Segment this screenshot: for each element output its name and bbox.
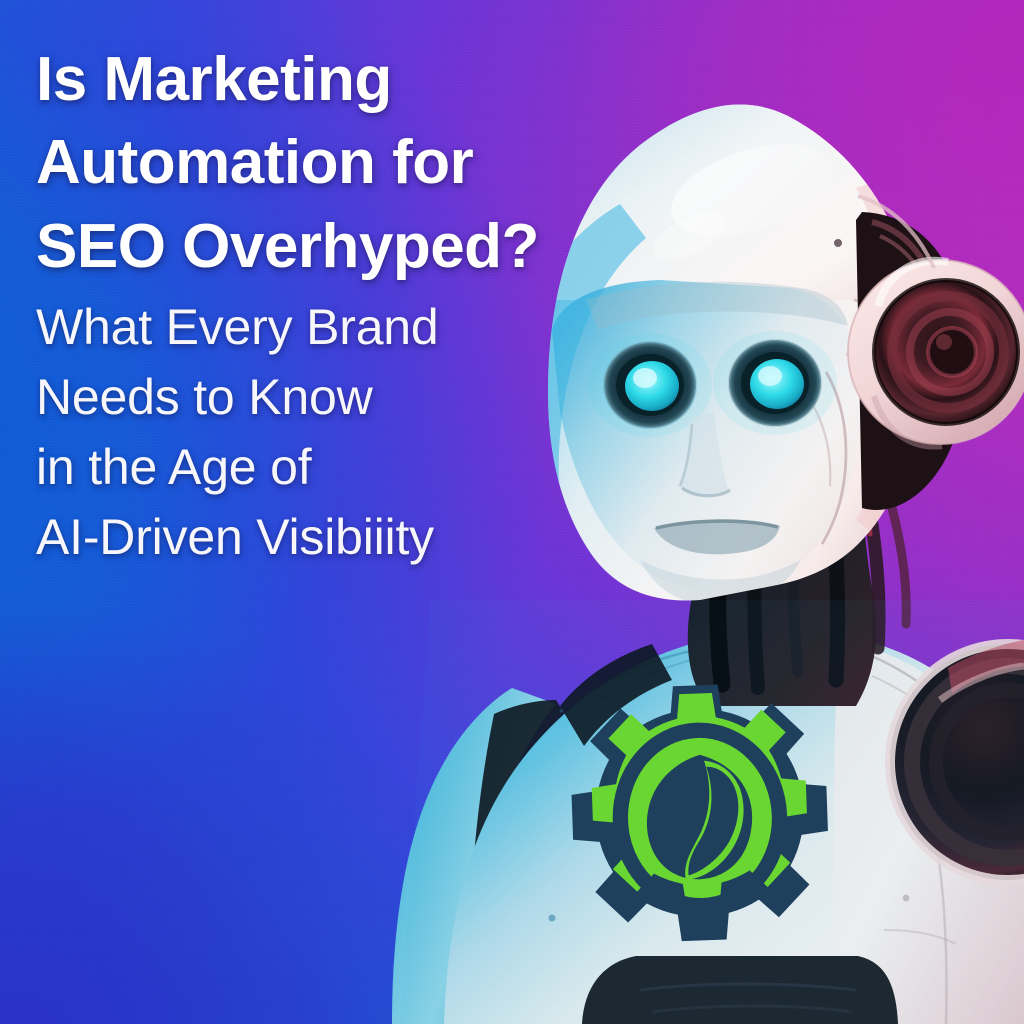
headline-line-2: Automation for [36, 121, 616, 204]
subhead-line-1: What Every Brand [36, 292, 616, 362]
headline-line-1: Is Marketing [36, 38, 616, 121]
subhead-line-4: AI-Driven Visibiiity [36, 502, 616, 572]
poster-canvas: Is Marketing Automation for SEO Overhype… [0, 0, 1024, 1024]
subhead: What Every Brand Needs to Know in the Ag… [36, 292, 616, 572]
poster-text-block: Is Marketing Automation for SEO Overhype… [36, 38, 616, 572]
robot-ear-camera [848, 212, 1024, 510]
headline-line-3: SEO Overhyped? [36, 205, 616, 288]
subhead-line-3: in the Age of [36, 432, 616, 502]
subhead-line-2: Needs to Know [36, 362, 616, 432]
robot-ambient-wash [400, 600, 1024, 1024]
headline: Is Marketing Automation for SEO Overhype… [36, 38, 616, 288]
